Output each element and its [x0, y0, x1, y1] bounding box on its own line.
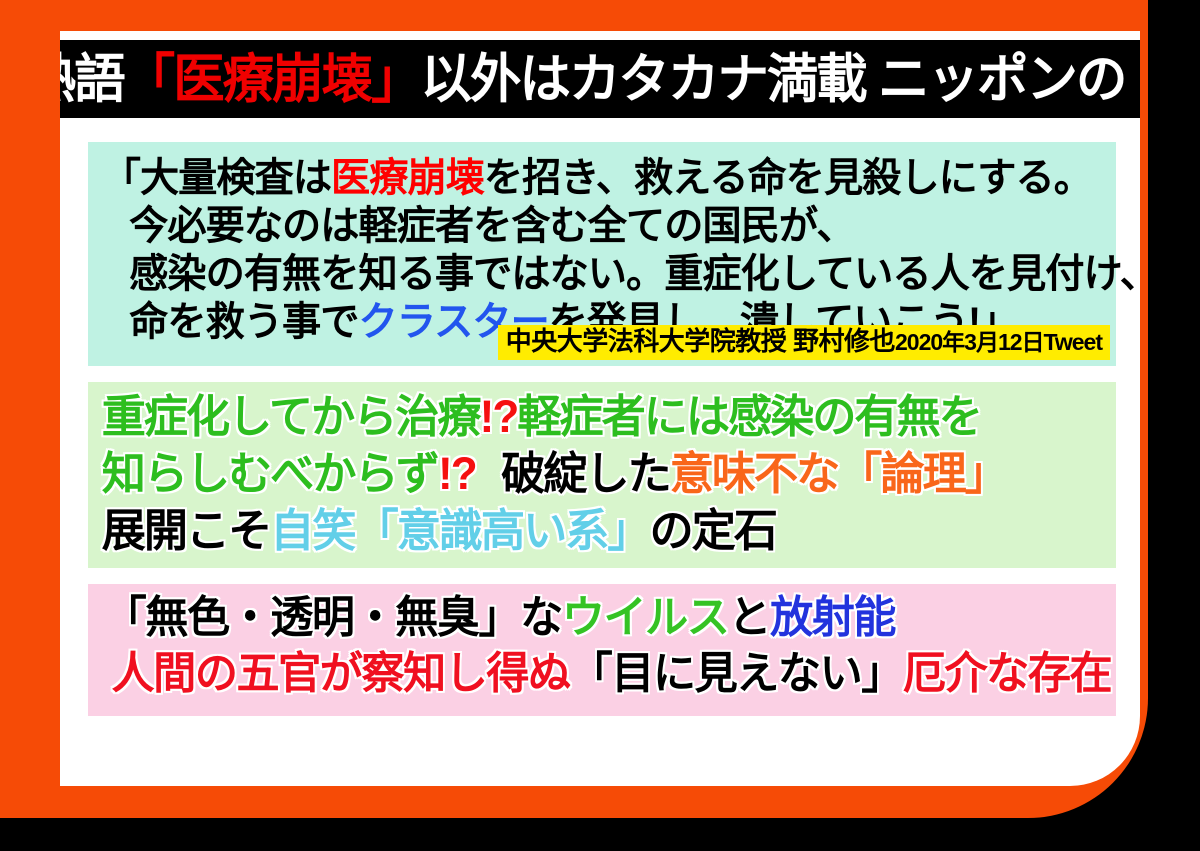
- quote-line-1-a: 「大量検査は: [102, 156, 331, 200]
- attribution-badge: 中央大学法科大学院教授 野村修也2020年3月12日Tweet: [498, 325, 1110, 360]
- title-part-1: 四文字熟語: [60, 50, 124, 109]
- attribution-date: 2020年3月12日Tweet: [895, 329, 1102, 355]
- commentary-line-2-a: 知らしむべからず: [102, 448, 438, 499]
- conclusion-block: 「無色・透明・無臭」なウイルスと放射能 人間の五官が察知し得ぬ「目に見えない」厄…: [88, 584, 1116, 716]
- conclusion-line-1: 「無色・透明・無臭」なウイルスと放射能: [88, 596, 1095, 640]
- title-bar: 四文字熟語「医療崩壊」以外はカタカナ満載 ニッポンの「眠度」: [60, 40, 1140, 118]
- conclusion-line-2-c: 厄介な存在: [903, 649, 1111, 698]
- slide-title: 四文字熟語「医療崩壊」以外はカタカナ満載 ニッポンの「眠度」: [60, 53, 1140, 106]
- conclusion-line-2-a: 人間の五官が察知し得ぬ: [112, 649, 570, 698]
- commentary-block: 重症化してから治療!?軽症者には感染の有無を 知らしむべからず!?破綻した意味不…: [88, 382, 1116, 568]
- commentary-line-3-c: の定石: [650, 505, 776, 556]
- commentary-line-1: 重症化してから治療!?軽症者には感染の有無を: [88, 394, 1095, 439]
- title-part-3: 以外はカタカナ満載: [421, 50, 866, 109]
- commentary-line-3-a: 展開こそ: [102, 505, 271, 556]
- quote-line-4-a: 命を救う事で: [129, 300, 358, 344]
- conclusion-line-2-b: 「目に見えない」: [570, 649, 903, 698]
- quote-line-1: 「大量検査は医療崩壊を招き、救える命を見殺しにする。: [88, 158, 1095, 198]
- commentary-line-2-mark: !?: [438, 448, 476, 499]
- conclusion-line-1-b: ウイルス: [562, 593, 729, 642]
- conclusion-line-1-c: と: [728, 593, 770, 642]
- conclusion-line-1-d: 放射能: [770, 593, 895, 642]
- quote-block: 「大量検査は医療崩壊を招き、救える命を見殺しにする。 今必要なのは軽症者を含む全…: [88, 142, 1116, 366]
- commentary-line-1-a: 重症化してから治療: [102, 391, 480, 442]
- slide-root: 四文字熟語「医療崩壊」以外はカタカナ満載 ニッポンの「眠度」 「大量検査は医療崩…: [0, 0, 1200, 851]
- commentary-line-3-b: 自笑「意識高い系」: [270, 505, 649, 556]
- quote-line-3: 感染の有無を知る事ではない。重症化している人を見付け、: [88, 254, 1095, 294]
- title-part-highlight: 「医療崩壊」: [124, 50, 421, 109]
- title-part-4: ニッポンの「眠度」: [866, 50, 1140, 109]
- commentary-line-2-d: 意味不な「論理」: [670, 448, 1007, 499]
- attribution-source: 中央大学法科大学院教授 野村修也: [506, 326, 895, 356]
- commentary-line-2: 知らしむべからず!?破綻した意味不な「論理」: [88, 451, 1095, 496]
- conclusion-line-2: 人間の五官が察知し得ぬ「目に見えない」厄介な存在: [88, 652, 1095, 696]
- conclusion-line-1-a: 「無色・透明・無臭」な: [104, 593, 562, 642]
- commentary-line-1-c: 軽症者には感染の有無を: [517, 391, 981, 442]
- quote-line-2: 今必要なのは軽症者を含む全ての国民が、: [88, 206, 1095, 246]
- commentary-line-1-mark: !?: [480, 391, 518, 442]
- commentary-line-2-c: 破綻した: [501, 448, 670, 499]
- commentary-line-3: 展開こそ自笑「意識高い系」の定石: [88, 508, 1095, 553]
- quote-line-1-c: を招き、救える命を見殺しにする。: [484, 156, 1092, 200]
- quote-line-1-highlight: 医療崩壊: [331, 156, 484, 200]
